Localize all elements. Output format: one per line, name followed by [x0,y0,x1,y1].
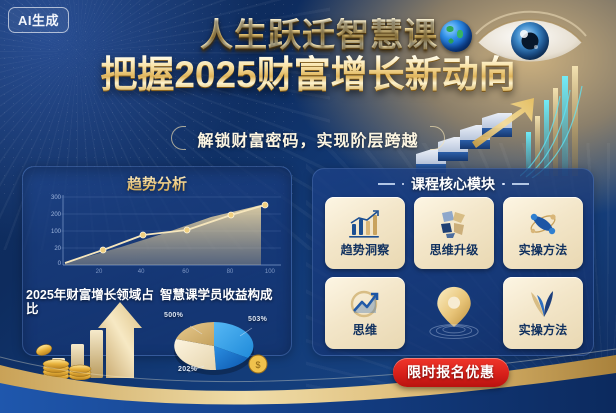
module-label-5: 实操方法 [519,321,568,338]
puzzle-pieces-icon [436,209,472,239]
module-label-0: 趋势洞察 [341,241,390,258]
dot-right-icon [502,183,505,186]
y-tick-0: 300 [51,195,61,201]
dash-left-icon [378,183,395,185]
ai-generated-badge: AI生成 [8,7,69,33]
module-label-3: 思维 [353,321,377,338]
core-modules-title: 课程核心模块 [411,174,495,194]
module-label-2: 实操方法 [519,241,568,258]
trend-analysis-title: 趋势分析 [23,173,291,194]
module-card-thinking[interactable]: 思维 [325,277,405,349]
wealth-area-label: 2025年财富增长领域占比 [26,288,154,317]
atom-orbit-icon [525,209,561,239]
module-card-trend-insight[interactable]: 趋势洞察 [325,197,405,269]
module-card-location [414,277,494,349]
x-tick-2: 60 [182,269,189,275]
poster-root: AI生成 [0,0,616,413]
y-tick-3: 20 [54,246,61,252]
bar-chart-trend-icon [347,209,383,239]
y-tick-1: 200 [51,212,61,218]
module-card-practical-method-2[interactable]: 实操方法 [503,277,583,349]
x-tick-4: 100 [265,269,275,275]
dash-right-icon [512,183,529,185]
module-label-1: 思维升级 [430,241,479,258]
y-axis-labels: 300 200 100 20 0 [37,195,61,265]
cta-button[interactable]: 限时报名优惠 [393,358,509,387]
pie-value-0: 500% [164,312,183,319]
globe-icon [440,20,472,52]
pie-chart-label: 智慧课学员收益构成 [160,288,290,302]
module-card-mindset-upgrade[interactable]: 思维升级 [414,197,494,269]
pie-value-1: 503% [248,316,267,323]
x-tick-0: 20 [96,269,103,275]
bottom-wave-decoration [0,343,616,413]
core-modules-title-row: 课程核心模块 [313,174,593,194]
subtitle-block: 解锁财富密码，实现阶层跨越 [0,124,616,154]
x-tick-3: 80 [227,269,234,275]
x-axis-labels: 20 40 60 80 100 [59,269,281,279]
arrow-growth-circle-icon [347,289,383,319]
headline-block: 人生跃迁智慧课 把握2025财富增长新动向 [0,18,616,94]
dot-left-icon [402,183,405,186]
leaf-swirl-icon [525,289,561,319]
page-title-line1: 人生跃迁智慧课 [200,18,438,53]
line-chart: 300 200 100 20 0 [37,195,281,277]
x-tick-1: 40 [138,269,145,275]
module-card-practical-method-1[interactable]: 实操方法 [503,197,583,269]
core-modules-panel: 课程核心模块 趋势洞察 [312,168,594,356]
y-tick-2: 100 [51,229,61,235]
subtitle-text: 解锁财富密码，实现阶层跨越 [171,124,444,154]
location-pin-icon [428,284,480,340]
module-card-grid: 趋势洞察 思维升级 [325,197,583,349]
page-title-line2: 把握2025财富增长新动向 [0,55,616,94]
